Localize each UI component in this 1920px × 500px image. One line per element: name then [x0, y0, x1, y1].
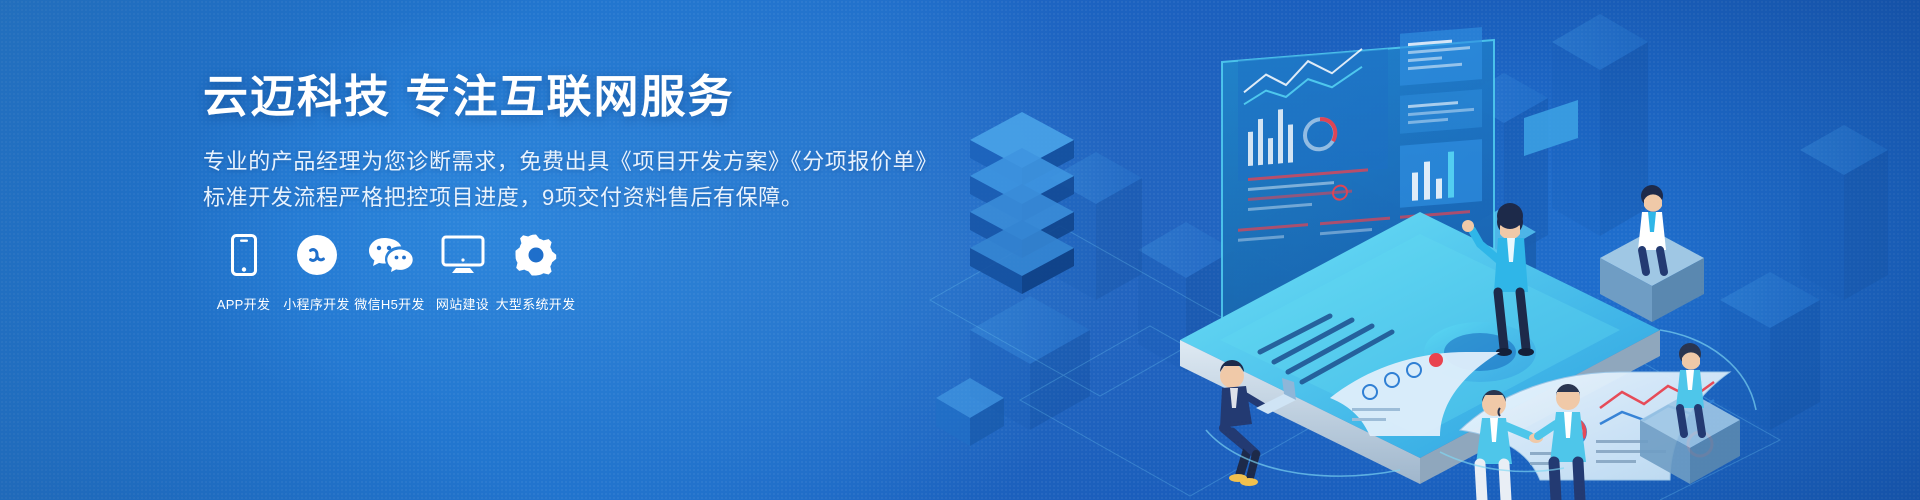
gear-icon — [515, 232, 557, 278]
service-label: 网站建设 — [436, 294, 489, 313]
service-item-miniprogram[interactable]: 小程序开发 — [280, 232, 353, 313]
service-item-app[interactable]: APP开发 — [207, 232, 280, 313]
banner-subtitle: 专业的产品经理为您诊断需求，免费出具《项目开发方案》《分项报价单》 标准开发流程… — [203, 144, 923, 215]
illustration-isometric-tech — [900, 0, 1920, 500]
mobile-phone-icon — [231, 232, 257, 278]
mini-program-icon — [297, 232, 337, 278]
subtitle-line-1: 专业的产品经理为您诊断需求，免费出具《项目开发方案》《分项报价单》 — [203, 144, 923, 180]
service-label: 小程序开发 — [283, 294, 350, 313]
wechat-icon — [367, 232, 413, 278]
service-label: APP开发 — [217, 294, 271, 313]
service-label: 微信H5开发 — [354, 294, 424, 313]
promo-banner: 云迈科技 专注互联网服务 专业的产品经理为您诊断需求，免费出具《项目开发方案》《… — [0, 0, 1920, 500]
monitor-icon — [441, 232, 485, 278]
service-label: 大型系统开发 — [496, 294, 576, 313]
banner-content: 云迈科技 专注互联网服务 专业的产品经理为您诊断需求，免费出具《项目开发方案》《… — [203, 70, 923, 215]
service-list: APP开发 小程序开发 — [207, 232, 572, 313]
service-item-website[interactable]: 网站建设 — [426, 232, 499, 313]
subtitle-line-2: 标准开发流程严格把控项目进度，9项交付资料售后有保障。 — [203, 180, 923, 216]
service-item-large-system[interactable]: 大型系统开发 — [499, 232, 572, 313]
service-item-wechat-h5[interactable]: 微信H5开发 — [353, 232, 426, 313]
page-title: 云迈科技 专注互联网服务 — [203, 70, 923, 124]
